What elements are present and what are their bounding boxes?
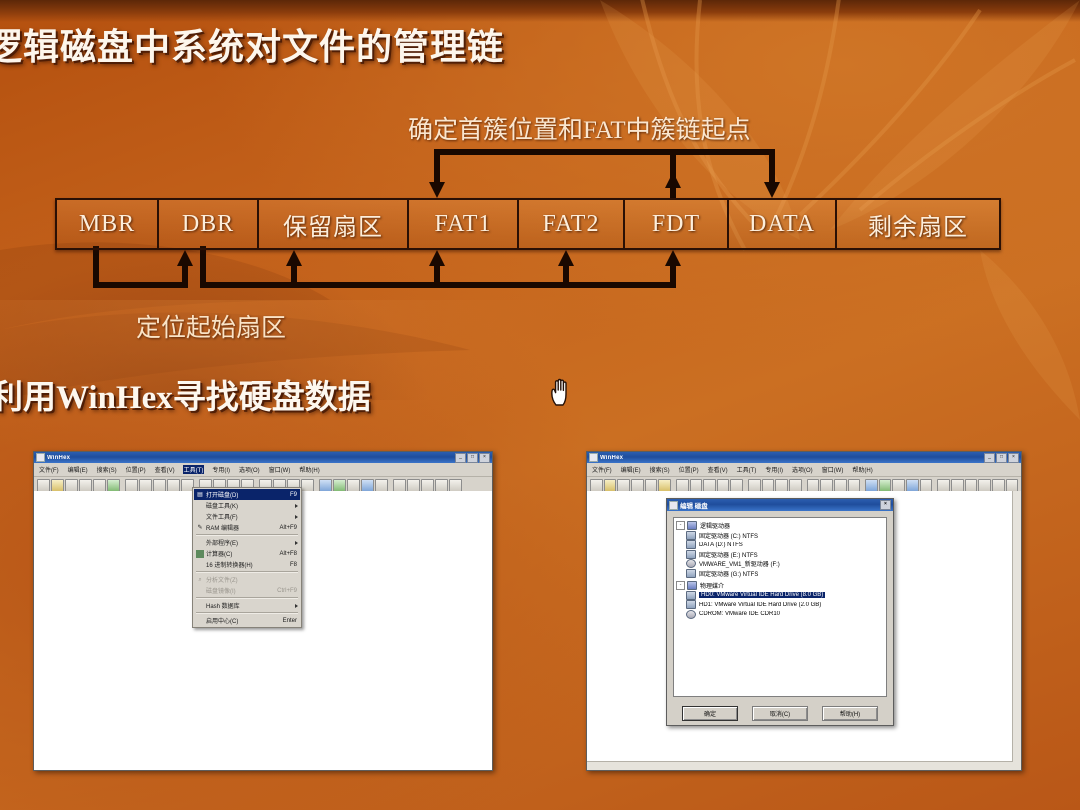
maximize-icon[interactable]: □: [996, 453, 1007, 463]
menu-item-hash-database[interactable]: Hash 数据库: [194, 600, 300, 611]
menu-search[interactable]: 搜索(S): [96, 465, 118, 474]
collapse-icon[interactable]: -: [676, 581, 685, 590]
toolbar-separator-5: [389, 480, 392, 491]
menu-item-external-programs[interactable]: 外部程序(E): [194, 537, 300, 548]
help-button[interactable]: 帮助(H): [822, 706, 878, 721]
sector-cell-fat1[interactable]: FAT1: [409, 200, 519, 248]
toolbar-separator-4: [861, 480, 864, 491]
toolbar-separator-4: [315, 480, 318, 491]
menu-view[interactable]: 查看(V): [707, 465, 729, 474]
sector-cell-mbr[interactable]: MBR: [57, 200, 159, 248]
menu-options[interactable]: 选项(O): [791, 465, 814, 474]
menu-separator-4: [196, 612, 298, 614]
menu-position[interactable]: 位置(P): [125, 465, 147, 474]
minimize-icon[interactable]: _: [984, 453, 995, 463]
left-window-titlebar[interactable]: WinHex _ □ ×: [34, 452, 492, 463]
tree-node-drive-c[interactable]: 固定驱动器 (C:) NTFS: [676, 531, 884, 541]
menu-view[interactable]: 查看(V): [154, 465, 176, 474]
cd-icon: [686, 559, 696, 568]
menu-edit[interactable]: 编辑(E): [620, 465, 642, 474]
left-window-controls[interactable]: _ □ ×: [455, 453, 490, 463]
right-window-controls[interactable]: _ □ ×: [984, 453, 1019, 463]
ram-icon: ✎: [196, 524, 204, 532]
menu-item-disk-image: 磁盘镜像(I) Ctrl+F9: [194, 585, 300, 596]
disk-icon: [686, 591, 696, 600]
close-icon[interactable]: ×: [1008, 453, 1019, 463]
tree-node-physical-media[interactable]: - 物理媒介: [676, 581, 884, 591]
winhex-icon: [589, 453, 598, 462]
pc-icon: [687, 521, 697, 530]
menu-item-disk-tools[interactable]: 磁盘工具(K): [194, 500, 300, 511]
sector-cell-remain[interactable]: 剩余扇区: [837, 200, 999, 248]
menu-item-open-disk[interactable]: ▤ 打开磁盘(D) F9: [194, 489, 300, 500]
diagram-caption-top: 确定首簇位置和FAT中簇链起点: [408, 110, 751, 146]
disk-tree[interactable]: - 逻辑驱动器 固定驱动器 (C:) NTFS DATA (D:) NTFS 固…: [673, 517, 887, 697]
disk-layout-bar: MBR DBR 保留扇区 FAT1 FAT2 FDT DATA 剩余扇区: [55, 198, 1001, 250]
tree-node-cdrom[interactable]: CDROM: VMware IDE CDR10: [676, 610, 884, 620]
cd-icon: [686, 610, 696, 619]
tree-node-drive-d[interactable]: DATA (D:) NTFS: [676, 540, 884, 550]
disk-icon: [686, 600, 696, 609]
menu-separator-3: [196, 597, 298, 599]
menu-item-file-tools[interactable]: 文件工具(F): [194, 511, 300, 522]
menu-search[interactable]: 搜索(S): [649, 465, 671, 474]
cancel-button[interactable]: 取消(C): [752, 706, 808, 721]
maximize-icon[interactable]: □: [467, 453, 478, 463]
chevron-right-icon: [295, 541, 298, 545]
chevron-right-icon: [295, 504, 298, 508]
menu-help[interactable]: 帮助(H): [851, 465, 873, 474]
tree-node-logical-drives[interactable]: - 逻辑驱动器: [676, 521, 884, 531]
close-icon[interactable]: ×: [479, 453, 490, 463]
sector-cell-reserved[interactable]: 保留扇区: [259, 200, 409, 248]
menu-tools[interactable]: 工具(T): [736, 465, 758, 474]
left-window-menubar[interactable]: 文件(F) 编辑(E) 搜索(S) 位置(P) 查看(V) 工具(T) 专用(I…: [34, 463, 492, 477]
menu-item-hex-converter[interactable]: 16 进制转换器(H) F8: [194, 559, 300, 570]
dialog-button-row: 确定 取消(C) 帮助(H): [667, 705, 893, 721]
section-subheading: 利用WinHex寻找硬盘数据: [0, 370, 371, 418]
menu-file[interactable]: 文件(F): [591, 465, 613, 474]
menu-separator: [196, 534, 298, 536]
edit-disk-dialog[interactable]: 编辑 磁盘 × - 逻辑驱动器 固定驱动器 (C:) NTFS DATA (D:…: [666, 498, 894, 726]
menu-specialist[interactable]: 专用(I): [211, 465, 231, 474]
winhex-window-right[interactable]: WinHex _ □ × 文件(F) 编辑(E) 搜索(S) 位置(P) 查看(…: [586, 451, 1022, 771]
dialog-title: 编辑 磁盘: [680, 500, 708, 510]
ok-button[interactable]: 确定: [682, 706, 738, 721]
toolbar-separator-3: [803, 480, 806, 491]
toolbar-separator-2: [744, 480, 747, 491]
menu-item-activation-center[interactable]: 启用中心(C) Enter: [194, 615, 300, 626]
minimize-icon[interactable]: _: [455, 453, 466, 463]
page-title: 逻辑磁盘中系统对文件的管理链: [0, 18, 504, 70]
tree-node-drive-g[interactable]: 固定驱动器 (G:) NTFS: [676, 569, 884, 579]
menu-specialist[interactable]: 专用(I): [764, 465, 784, 474]
hand-cursor: [549, 378, 573, 406]
menu-file[interactable]: 文件(F): [38, 465, 60, 474]
menu-window[interactable]: 窗口(W): [268, 465, 292, 474]
menu-tools[interactable]: 工具(T): [183, 465, 205, 474]
horizontal-scrollbar[interactable]: [587, 761, 1013, 770]
chevron-right-icon: [295, 604, 298, 608]
tree-node-drive-f[interactable]: VMWARE_VM1_新驱动器 (F:): [676, 559, 884, 569]
menu-separator-2: [196, 571, 298, 573]
toolbar-separator: [672, 480, 675, 491]
dialog-titlebar[interactable]: 编辑 磁盘 ×: [667, 499, 893, 511]
left-window-title: WinHex: [47, 455, 70, 461]
tree-node-hd0[interactable]: HD0: VMware Virtual IDE Hard Drive (8.0 …: [676, 591, 884, 601]
menu-item-ram-editor[interactable]: ✎ RAM 编辑器 Alt+F9: [194, 522, 300, 533]
toolbar-separator-5: [933, 480, 936, 491]
menu-edit[interactable]: 编辑(E): [67, 465, 89, 474]
sector-cell-dbr[interactable]: DBR: [159, 200, 259, 248]
disk-icon: [669, 501, 678, 510]
menu-window[interactable]: 窗口(W): [821, 465, 845, 474]
winhex-window-left[interactable]: WinHex _ □ × 文件(F) 编辑(E) 搜索(S) 位置(P) 查看(…: [33, 451, 493, 771]
menu-options[interactable]: 选项(O): [238, 465, 261, 474]
sector-cell-fat2[interactable]: FAT2: [519, 200, 625, 248]
analyze-icon: ⌕: [196, 576, 204, 584]
sector-cell-fdt[interactable]: FDT: [625, 200, 729, 248]
menu-position[interactable]: 位置(P): [678, 465, 700, 474]
toolbar-separator: [121, 480, 124, 491]
menu-item-analyze-file: ⌕ 分析文件(Z): [194, 574, 300, 585]
sector-cell-data[interactable]: DATA: [729, 200, 837, 248]
menu-item-calculator[interactable]: 计算器(C) Alt+F8: [194, 548, 300, 559]
drive-icon: [686, 550, 696, 559]
pc-icon: [687, 581, 697, 590]
disk-icon: ▤: [196, 491, 204, 499]
close-icon[interactable]: ×: [880, 500, 891, 510]
drive-icon: [686, 540, 696, 549]
calc-icon: [196, 550, 204, 558]
tree-node-hd1[interactable]: HD1: VMware Virtual IDE Hard Drive (2.0 …: [676, 600, 884, 610]
right-window-title: WinHex: [600, 455, 623, 461]
vertical-scrollbar[interactable]: [1012, 491, 1021, 770]
drive-icon: [686, 531, 696, 540]
menu-help[interactable]: 帮助(H): [298, 465, 320, 474]
diagram-caption-bottom: 定位起始扇区: [136, 308, 286, 344]
winhex-icon: [36, 453, 45, 462]
tools-dropdown-menu[interactable]: ▤ 打开磁盘(D) F9 磁盘工具(K) 文件工具(F) ✎ RAM 编辑器 A…: [192, 487, 302, 628]
collapse-icon[interactable]: -: [676, 521, 685, 530]
right-window-titlebar[interactable]: WinHex _ □ ×: [587, 452, 1021, 463]
drive-icon: [686, 569, 696, 578]
right-window-menubar[interactable]: 文件(F) 编辑(E) 搜索(S) 位置(P) 查看(V) 工具(T) 专用(I…: [587, 463, 1021, 477]
chevron-right-icon: [295, 515, 298, 519]
tree-node-drive-e[interactable]: 固定驱动器 (E:) NTFS: [676, 550, 884, 560]
